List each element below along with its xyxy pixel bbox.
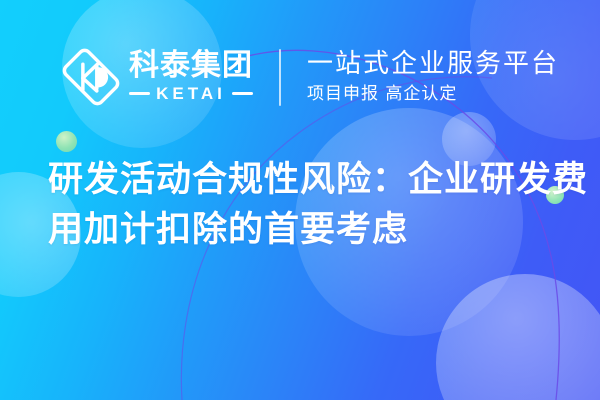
circle-bubble-bottom-right: [436, 274, 600, 400]
header-divider: [279, 49, 281, 106]
banner-title: 研发活动合规性风险：企业研发费 用加计扣除的首要考虑: [48, 155, 568, 255]
slogan-main-text: 一站式企业服务平台: [307, 49, 559, 80]
brand-name-cn: 科泰集团: [129, 50, 253, 82]
ketai-diamond-monogram-icon: [62, 48, 120, 106]
title-line-1: 研发活动合规性风险：企业研发费: [48, 155, 568, 205]
banner-header: 科泰集团 KETAI 一站式企业服务平台 项目申报 高企认定: [0, 38, 600, 116]
brand-dash-right: [232, 92, 253, 95]
brand-name-en: KETAI: [150, 84, 232, 104]
slogan-sub-text: 项目申报 高企认定: [307, 84, 559, 105]
slogan-block: 一站式企业服务平台 项目申报 高企认定: [307, 49, 559, 106]
brand-wordmark: 科泰集团 KETAI: [129, 50, 253, 104]
green-dot-left: [56, 131, 77, 152]
brand-en-row: KETAI: [129, 84, 253, 104]
brand-dash-left: [129, 92, 150, 95]
banner-image: 科泰集团 KETAI 一站式企业服务平台 项目申报 高企认定 研发活动合规性风险…: [0, 0, 600, 400]
brand-logo: 科泰集团 KETAI: [62, 48, 253, 106]
title-line-2: 用加计扣除的首要考虑: [48, 205, 568, 255]
